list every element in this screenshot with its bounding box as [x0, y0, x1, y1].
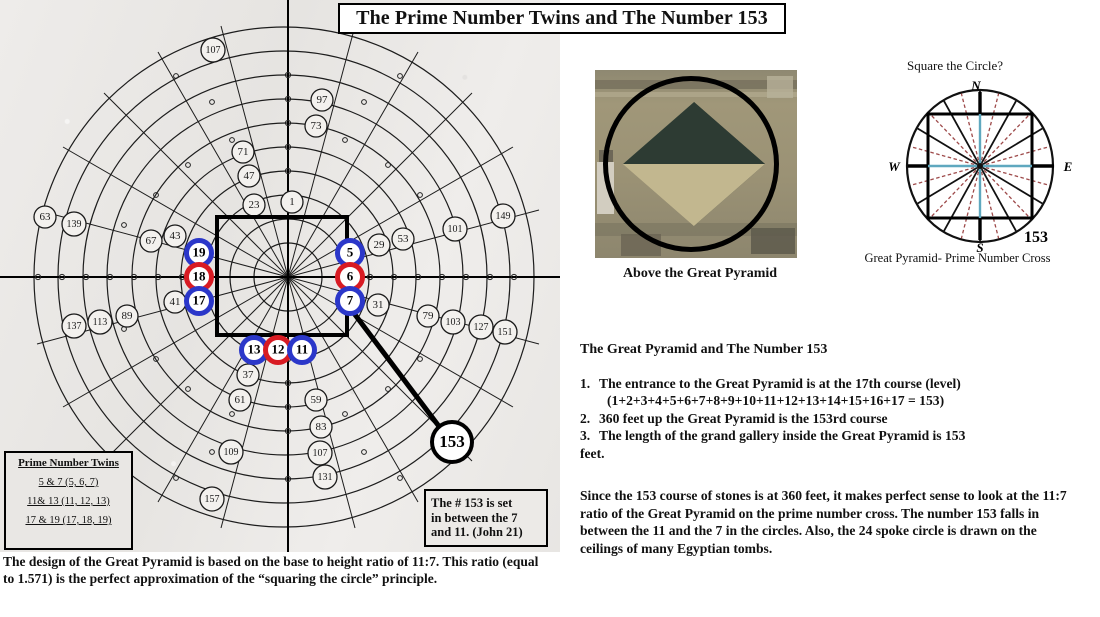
- right-paragraph: Since the 153 course of stones is at 360…: [580, 487, 1080, 558]
- prime-node-label: 139: [67, 219, 82, 230]
- bottom-caption: The design of the Great Pyramid is based…: [3, 553, 551, 587]
- prime-node-label: 103: [446, 317, 461, 328]
- prime-node-label: 29: [374, 239, 386, 251]
- prime-node-label: 41: [170, 296, 181, 308]
- prime-node-label: 149: [496, 211, 511, 222]
- page-title: The Prime Number Twins and The Number 15…: [338, 3, 786, 34]
- prime-node-label: 37: [243, 369, 255, 381]
- stc-153-label: 153: [1024, 229, 1048, 246]
- prime-node-label: 131: [318, 472, 333, 483]
- prime-node-label: 157: [205, 494, 220, 505]
- list-item-sub: (1+2+3+4+5+6+7+8+9+10+11+12+13+14+15+16+…: [607, 392, 1085, 409]
- note-153-line-1: The # 153 is set: [431, 496, 541, 511]
- right-numbered-list: 1. The entrance to the Great Pyramid is …: [580, 375, 1085, 462]
- prime-node-label: 31: [373, 299, 384, 311]
- list-item-text: The length of the grand gallery inside t…: [599, 427, 965, 444]
- stc-west-label: W: [888, 159, 901, 174]
- note-153-line-3: and 11. (John 21): [431, 525, 541, 540]
- prime-node-label: 67: [146, 235, 158, 247]
- prime-node-label: 71: [238, 146, 249, 158]
- list-item: 2. 360 feet up the Great Pyramid is the …: [580, 410, 1085, 427]
- prime-node-label: 97: [317, 94, 329, 106]
- prime-node-label: 63: [40, 211, 52, 223]
- list-item: 1. The entrance to the Great Pyramid is …: [580, 375, 1085, 392]
- note-153-box: The # 153 is set in between the 7 and 11…: [424, 489, 548, 547]
- highlighted-prime-label: 18: [193, 268, 207, 283]
- prime-node-label: 61: [235, 394, 246, 406]
- prime-node-label: 107: [206, 45, 221, 56]
- prime-node-label: 43: [170, 230, 182, 242]
- square-the-circle-title: Square the Circle?: [855, 58, 1055, 74]
- highlighted-prime-label: 5: [347, 244, 354, 259]
- prime-node-label: 89: [122, 310, 134, 322]
- page-root: The Prime Number Twins and The Number 15…: [0, 0, 1100, 617]
- stc-north-label: N: [970, 78, 981, 93]
- highlighted-prime-label: 6: [347, 268, 354, 283]
- prime-node-label: 73: [311, 120, 323, 132]
- callout-153-label: 153: [439, 432, 465, 451]
- great-pyramid-aerial-figure: [595, 70, 797, 258]
- list-item-tail: feet.: [580, 445, 1085, 462]
- prime-node-label: 109: [224, 447, 239, 458]
- circle-overlay-icon: [603, 76, 779, 252]
- prime-node-label: 53: [398, 233, 410, 245]
- list-item-text: The entrance to the Great Pyramid is at …: [599, 375, 961, 392]
- pyramid-caption: Above the Great Pyramid: [595, 266, 805, 282]
- prime-number-cross-diagram: 1079773714723163139149674329531014131137…: [0, 0, 560, 552]
- prime-node-label: 101: [448, 224, 463, 235]
- prime-node-label: 113: [93, 317, 108, 328]
- prime-node-label: 1: [289, 196, 295, 208]
- twins-row-3: 17 & 19 (17, 18, 19): [6, 515, 131, 526]
- great-pyramid-aerial-photo: [595, 70, 797, 258]
- highlighted-prime-label: 12: [272, 341, 285, 356]
- twins-row-1: 5 & 7 (5, 6, 7): [6, 477, 131, 488]
- note-153-line-2: in between the 7: [431, 511, 541, 526]
- prime-node-label: 83: [316, 421, 328, 433]
- twins-row-2: 11& 13 (11, 12, 13): [6, 496, 131, 507]
- page-title-text: The Prime Number Twins and The Number 15…: [356, 7, 768, 30]
- list-item-number: 3.: [580, 427, 599, 444]
- prime-number-twins-box: Prime Number Twins 5 & 7 (5, 6, 7) 11& 1…: [4, 451, 133, 550]
- right-heading: The Great Pyramid and The Number 153: [580, 342, 1080, 358]
- stc-east-label: E: [1063, 159, 1073, 174]
- prime-node-label: 127: [474, 322, 489, 333]
- prime-node-label: 137: [67, 321, 82, 332]
- list-item: 3. The length of the grand gallery insid…: [580, 427, 1085, 444]
- highlighted-prime-label: 19: [193, 244, 207, 259]
- highlighted-prime-label: 11: [296, 341, 308, 356]
- highlighted-prime-label: 7: [347, 292, 354, 307]
- prime-node-label: 59: [311, 394, 323, 406]
- highlighted-prime-label: 17: [193, 292, 207, 307]
- square-the-circle-svg: N S E W 153: [880, 78, 1080, 253]
- ground-structure-ne: [767, 76, 793, 98]
- list-item-number: 2.: [580, 410, 599, 427]
- prime-node-label: 107: [313, 448, 328, 459]
- list-item-number: 1.: [580, 375, 599, 392]
- stc-center-hub: [977, 163, 983, 169]
- twins-heading: Prime Number Twins: [6, 457, 131, 469]
- highlighted-prime-label: 13: [248, 341, 262, 356]
- prime-node-label: 151: [498, 327, 513, 338]
- square-the-circle-caption: Great Pyramid- Prime Number Cross: [845, 251, 1070, 266]
- prime-node-label: 23: [249, 199, 261, 211]
- highlighted-prime-twins: 191817567131211: [187, 241, 363, 363]
- prime-node-label: 79: [423, 310, 435, 322]
- list-item-text: 360 feet up the Great Pyramid is the 153…: [599, 410, 888, 427]
- prime-node-label: 47: [244, 170, 256, 182]
- ground-structure-se: [751, 228, 795, 254]
